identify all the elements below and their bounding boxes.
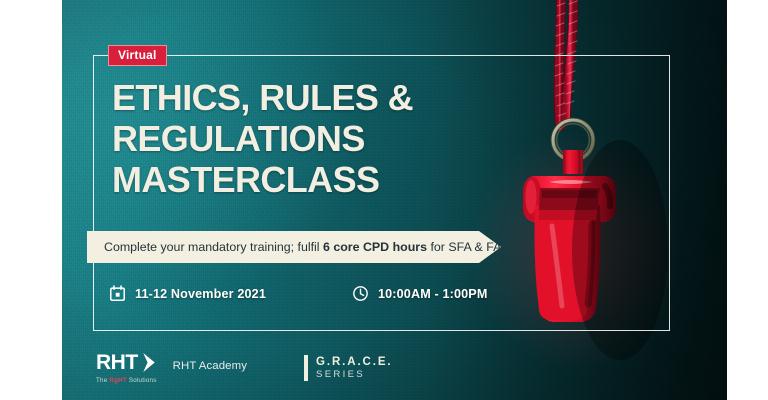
rht-wordmark: RHT [96, 352, 138, 373]
rht-mark: RHT The RgHT Solutions [96, 352, 157, 384]
grace-title: G.R.A.C.E. [316, 356, 393, 370]
event-date-label: 11-12 November 2021 [135, 287, 266, 301]
rht-academy-label: RHT Academy [173, 360, 247, 377]
rht-logo: RHT The RgHT Solutions RHT Academy [96, 352, 247, 384]
footer-logos: RHT The RgHT Solutions RHT Academy G.R.A… [96, 352, 393, 384]
event-details: 11-12 November 2021 10:00AM - 1:00PM [109, 285, 487, 302]
subtitle-emphasis: 6 core CPD hours [323, 240, 427, 254]
rht-tagline: The RgHT Solutions [96, 377, 157, 384]
page-title: ETHICS, RULES & REGULATIONS MASTERCLASS [112, 78, 542, 201]
grace-subtitle: SERIES [316, 369, 393, 380]
event-time: 10:00AM - 1:00PM [352, 285, 487, 302]
subtitle-before: Complete your mandatory training; fulfil [104, 240, 323, 254]
rht-tagline-post: Solutions [127, 377, 157, 384]
rht-tagline-highlight: RgHT [109, 377, 127, 384]
clock-icon [352, 285, 369, 302]
chevron-right-icon [141, 352, 157, 373]
event-date: 11-12 November 2021 [109, 285, 266, 302]
grace-accent-bar [304, 355, 308, 381]
rht-wordmark-row: RHT [96, 352, 157, 373]
headline-line-2: REGULATIONS [112, 119, 542, 160]
event-poster: Virtual ETHICS, RULES & REGULATIONS MAST… [0, 0, 768, 400]
calendar-icon [109, 285, 126, 302]
headline-line-3: MASTERCLASS [112, 160, 542, 201]
subtitle-ribbon: Complete your mandatory training; fulfil… [87, 231, 501, 263]
subtitle-text: Complete your mandatory training; fulfil… [104, 241, 510, 253]
grace-text-block: G.R.A.C.E. SERIES [316, 356, 393, 381]
rht-tagline-pre: The [96, 377, 109, 384]
event-time-label: 10:00AM - 1:00PM [378, 287, 487, 301]
virtual-badge: Virtual [108, 45, 167, 66]
grace-series-logo: G.R.A.C.E. SERIES [304, 355, 393, 381]
headline-line-1: ETHICS, RULES & [112, 78, 542, 119]
